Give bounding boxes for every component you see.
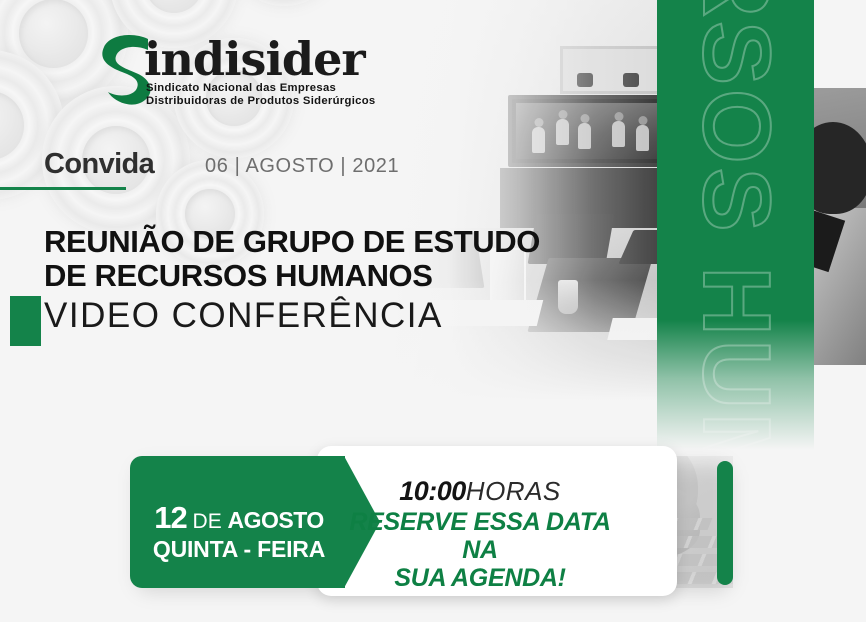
- banner-weekday: QUINTA - FEIRA: [144, 536, 334, 563]
- banner-time-label: HORAS: [466, 476, 561, 506]
- logo-subtitle-line1: Sindicato Nacional das Empresas: [146, 82, 336, 94]
- vertical-green-band: RECURSOS HUMANOS: [657, 0, 814, 450]
- banner-cta-line-1: RESERVE ESSA DATA NA: [330, 508, 630, 564]
- banner-month: AGOSTO: [228, 507, 324, 533]
- logo-wordmark: indisider: [144, 36, 365, 82]
- invite-date: 06 | AGOSTO | 2021: [205, 155, 399, 178]
- sindisider-logo: indisider Sindicato Nacional das Empresa…: [100, 34, 350, 110]
- banner-cta: RESERVE ESSA DATA NA SUA AGENDA!: [330, 508, 630, 592]
- banner-green-edge: [717, 461, 733, 585]
- invite-label: Convida: [44, 148, 154, 181]
- event-invitation-poster: RECURSOS HUMANOS indisider Sindicato Nac…: [0, 0, 866, 622]
- logo-subtitle-line2: Distribuidoras de Produtos Siderúrgicos: [146, 95, 376, 107]
- headline-line-2: DE RECURSOS HUMANOS: [44, 260, 433, 291]
- banner-date-line: 12 DE AGOSTO: [144, 502, 334, 533]
- banner-day-number: 12: [154, 500, 186, 535]
- green-square-accent: [10, 296, 41, 346]
- banner-time-line: 10:00HORAS: [330, 478, 630, 505]
- headline-line-3: VIDEO CONFERÊNCIA: [44, 298, 443, 333]
- banner-time: 10:00: [399, 476, 466, 506]
- headline-line-1: REUNIÃO DE GRUPO DE ESTUDO: [44, 226, 540, 257]
- banner-day-connector: DE: [187, 510, 228, 533]
- banner-cta-line-2: SUA AGENDA!: [330, 564, 630, 592]
- green-divider-rule: [0, 187, 126, 190]
